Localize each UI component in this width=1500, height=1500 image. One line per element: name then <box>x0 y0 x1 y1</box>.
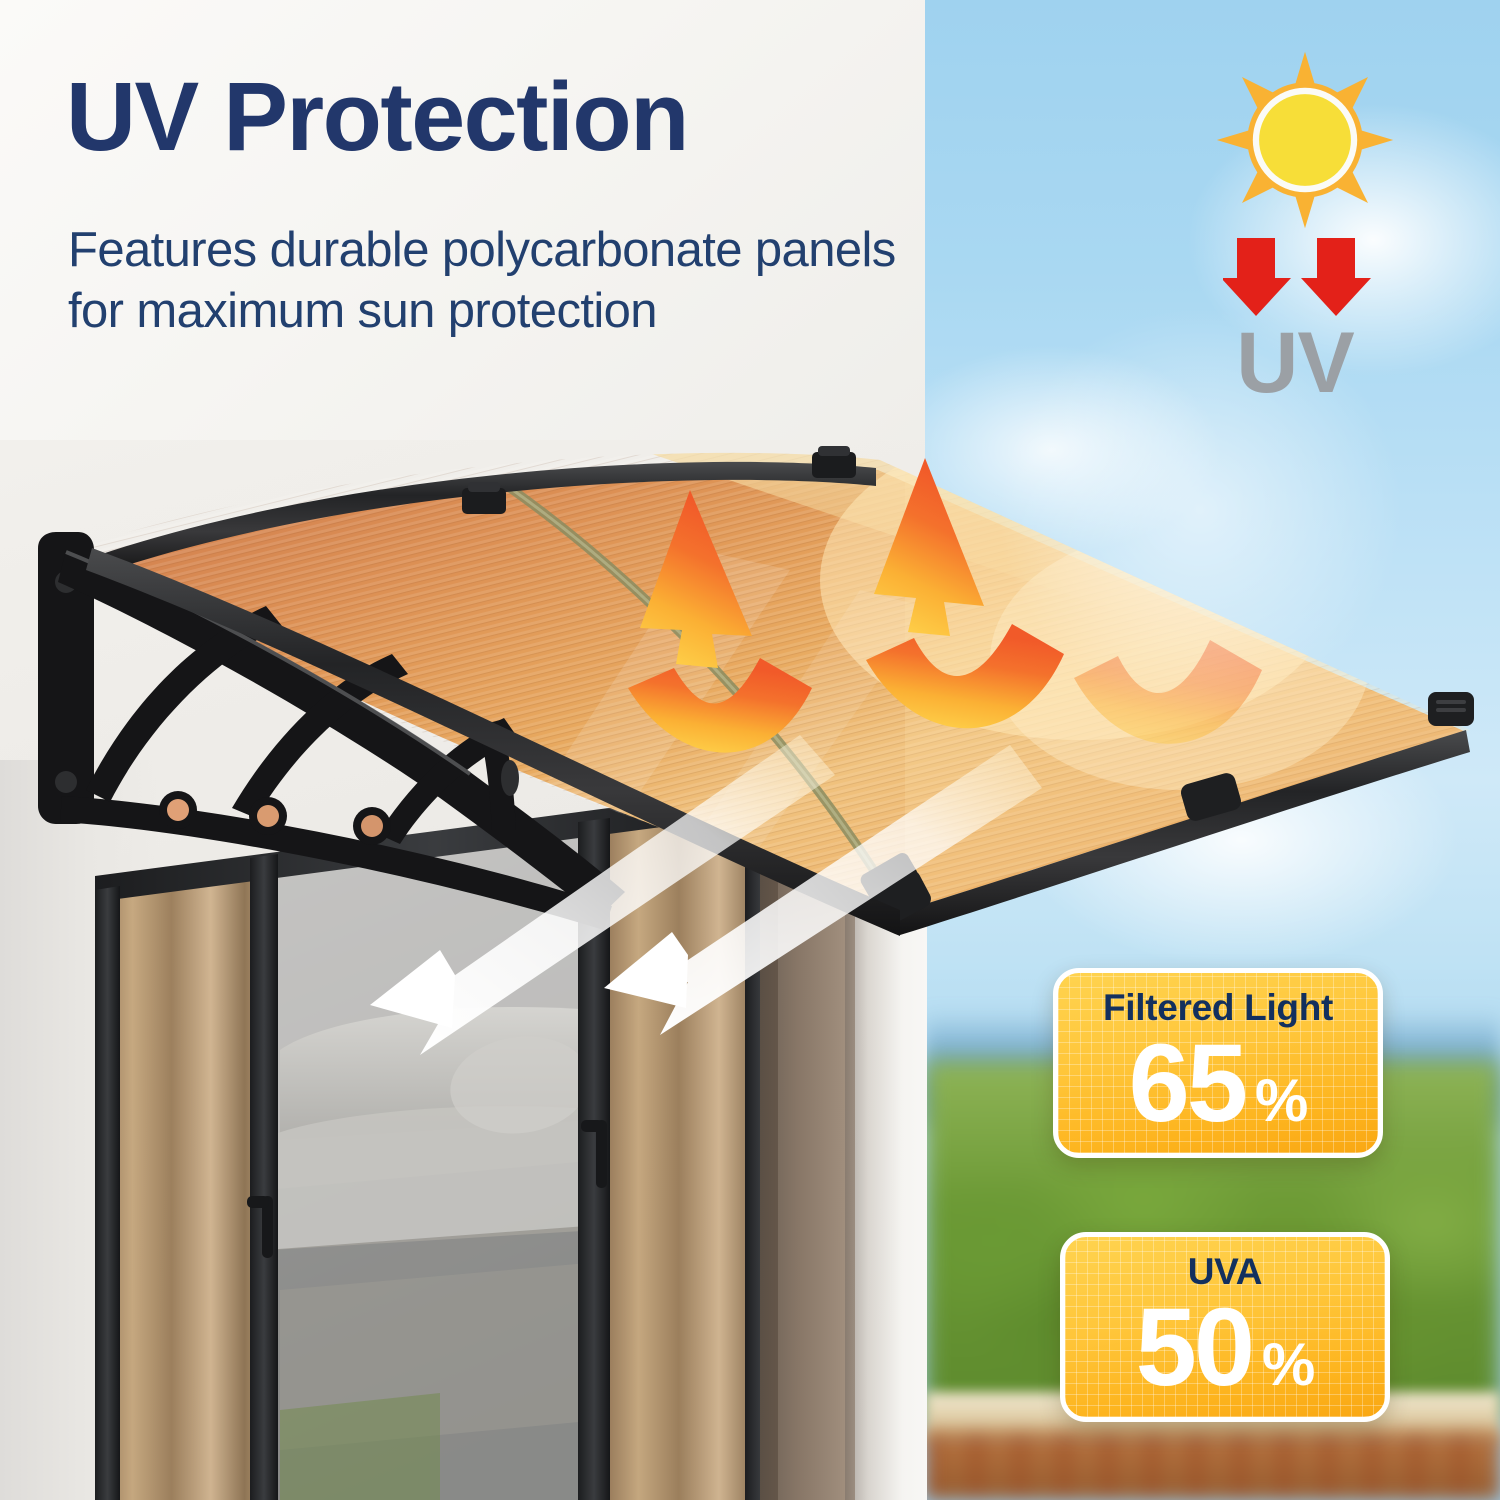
badge-number: 65 <box>1129 1030 1245 1138</box>
badge-value: 65 % <box>1129 1030 1308 1138</box>
badge-unit: % <box>1262 1336 1314 1395</box>
badge-title: UVA <box>1188 1253 1262 1290</box>
wall-mount-clip <box>812 446 856 478</box>
badge-unit: % <box>1255 1072 1307 1131</box>
status-badge-uva: UVA 50 % <box>1060 1232 1390 1422</box>
badge-title: Filtered Light <box>1103 989 1333 1026</box>
subtitle-line-2: for maximum sun protection <box>68 284 657 338</box>
uv-label: UV <box>1195 320 1395 406</box>
badge-number: 50 <box>1136 1294 1252 1402</box>
awning-canopy <box>0 430 1500 950</box>
corner-connector <box>1428 692 1474 726</box>
uv-indicator: UV <box>1195 50 1445 390</box>
status-badge-filtered-light: Filtered Light 65 % <box>1053 968 1383 1158</box>
wall-mount-clip <box>462 482 506 514</box>
uv-down-arrows-icon <box>1223 238 1383 318</box>
page-subtitle: Features durable polycarbonate panels fo… <box>68 220 1198 342</box>
subtitle-line-1: Features durable polycarbonate panels <box>68 223 896 277</box>
marketing-image-canvas: UV Protection Features durable polycarbo… <box>0 0 1500 1500</box>
door-jamb-left <box>95 886 120 1500</box>
sun-icon <box>1215 50 1395 230</box>
page-title: UV Protection <box>66 68 926 165</box>
door-mullion-left <box>250 854 278 1500</box>
badge-value: 50 % <box>1136 1294 1315 1402</box>
